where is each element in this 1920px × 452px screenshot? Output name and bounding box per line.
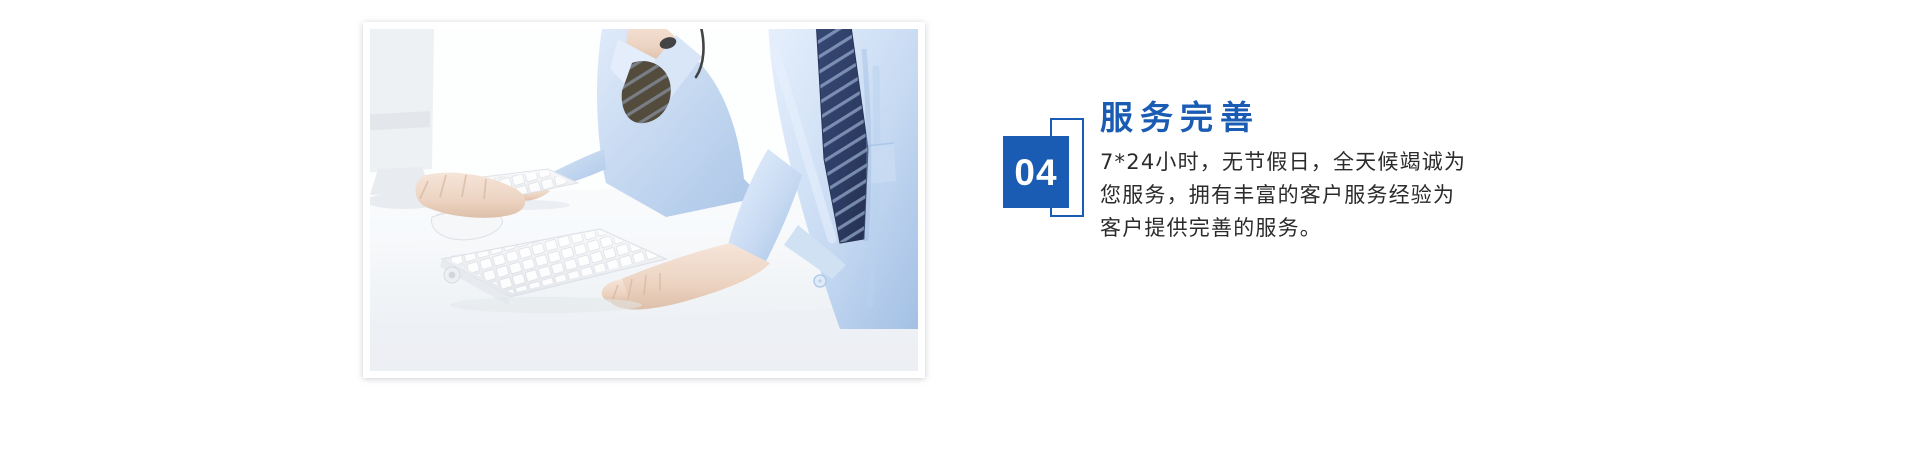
service-photo-frame	[363, 22, 925, 378]
promo-section: 04 服务完善 7*24小时，无节假日，全天候竭诚为 您服务，拥有丰富的客户服务…	[0, 0, 1920, 452]
badge-solid-square: 04	[1003, 136, 1069, 208]
panel-description: 7*24小时，无节假日，全天候竭诚为 您服务，拥有丰富的客户服务经验为 客户提供…	[1100, 146, 1620, 245]
panel-title: 服务完善	[1100, 96, 1620, 140]
panel-description-line: 7*24小时，无节假日，全天候竭诚为	[1100, 146, 1620, 179]
badge-number: 04	[1014, 154, 1057, 191]
panel-description-line: 您服务，拥有丰富的客户服务经验为	[1100, 179, 1620, 212]
service-photo-illustration	[370, 29, 918, 371]
panel-description-line: 客户提供完善的服务。	[1100, 212, 1620, 245]
step-badge: 04	[1003, 118, 1087, 220]
panel-text-block: 服务完善 7*24小时，无节假日，全天候竭诚为 您服务，拥有丰富的客户服务经验为…	[1100, 96, 1620, 245]
service-photo	[370, 29, 918, 371]
